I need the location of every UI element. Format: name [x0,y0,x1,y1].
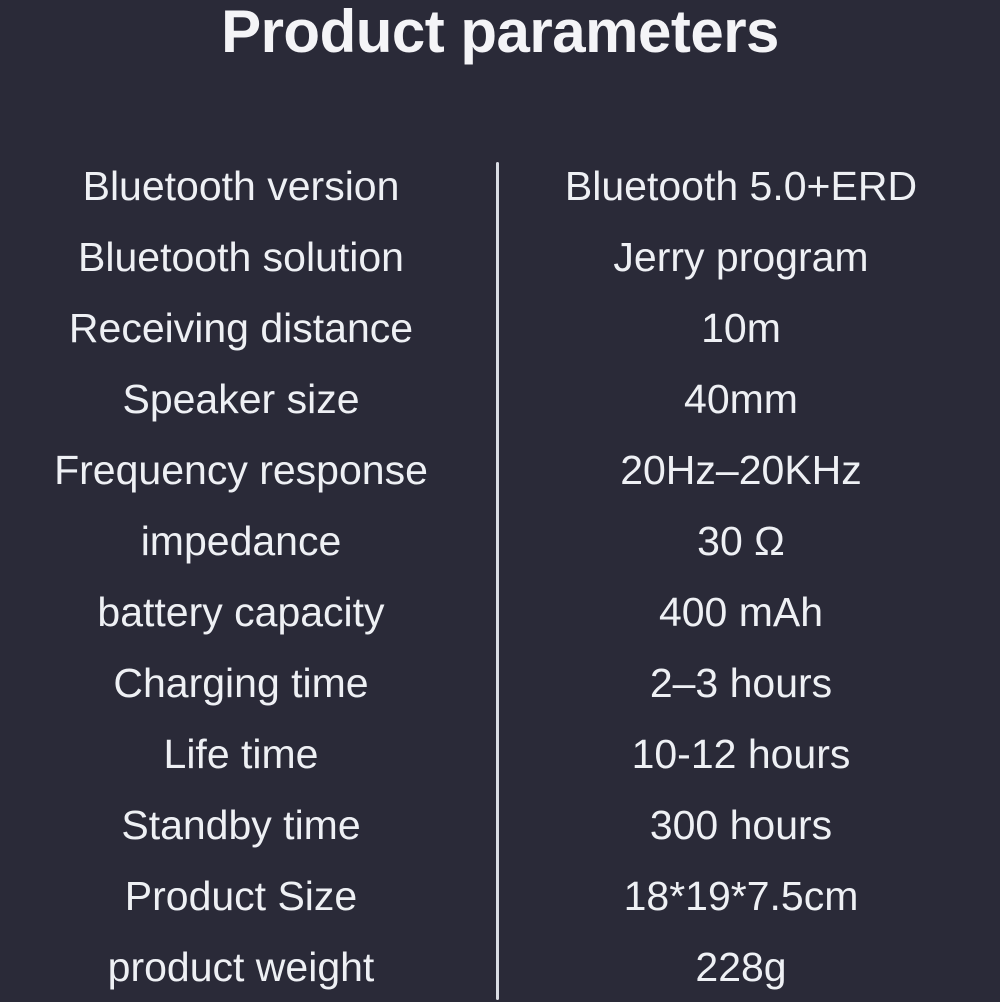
spec-label: Frequency response [0,446,482,494]
spec-label: Bluetooth solution [0,233,482,281]
spec-label: Speaker size [0,375,482,423]
page-title: Product parameters [0,0,1000,66]
table-row: Life time 10-12 hours [0,718,1000,789]
table-row: Charging time 2–3 hours [0,647,1000,718]
spec-label: product weight [0,943,482,991]
spec-value: 2–3 hours [482,659,1000,707]
table-row: Bluetooth solution Jerry program [0,221,1000,292]
spec-value: 300 hours [482,801,1000,849]
spec-value: 20Hz–20KHz [482,446,1000,494]
spec-label: Life time [0,730,482,778]
spec-value: 10m [482,304,1000,352]
table-row: Receiving distance 10m [0,292,1000,363]
spec-value: 40mm [482,375,1000,423]
spec-value: 400 mAh [482,588,1000,636]
spec-label: Product Size [0,872,482,920]
table-row: product weight 228g [0,931,1000,1002]
spec-label: impedance [0,517,482,565]
table-row: impedance 30 Ω [0,505,1000,576]
spec-value: Jerry program [482,233,1000,281]
table-row: Bluetooth version Bluetooth 5.0+ERD [0,150,1000,221]
spec-table: Bluetooth version Bluetooth 5.0+ERD Blue… [0,150,1000,1002]
spec-value: Bluetooth 5.0+ERD [482,162,1000,210]
spec-label: Receiving distance [0,304,482,352]
table-row: Product Size 18*19*7.5cm [0,860,1000,931]
spec-value: 10-12 hours [482,730,1000,778]
table-row: Speaker size 40mm [0,363,1000,434]
spec-value: 18*19*7.5cm [482,872,1000,920]
table-row: Frequency response 20Hz–20KHz [0,434,1000,505]
spec-value: 30 Ω [482,517,1000,565]
spec-label: battery capacity [0,588,482,636]
spec-label: Bluetooth version [0,162,482,210]
spec-value: 228g [482,943,1000,991]
table-row: battery capacity 400 mAh [0,576,1000,647]
spec-label: Standby time [0,801,482,849]
spec-label: Charging time [0,659,482,707]
table-row: Standby time 300 hours [0,789,1000,860]
product-parameters-sheet: Product parameters Bluetooth version Blu… [0,0,1000,1000]
